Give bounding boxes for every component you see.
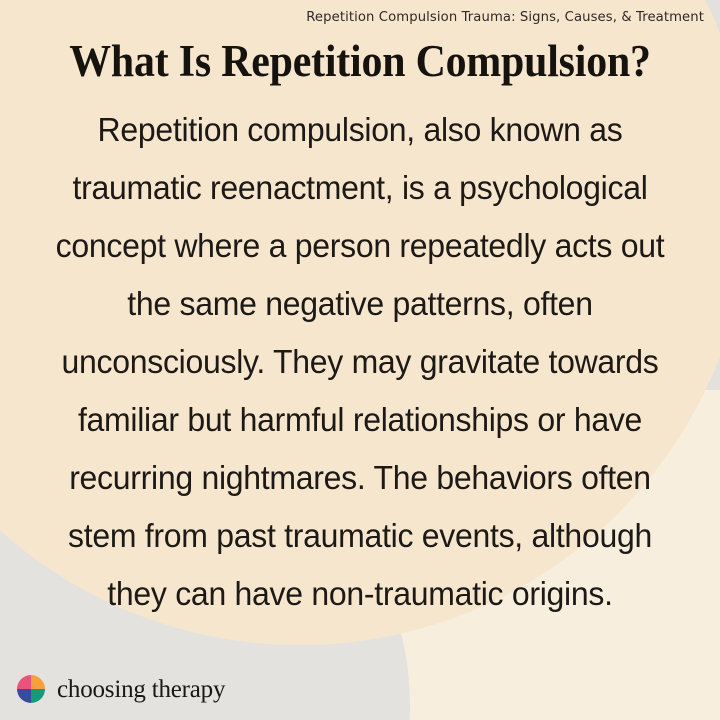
body-line: stem from past traumatic events, althoug… <box>33 508 686 566</box>
choosing-therapy-pinwheel-logo-icon <box>16 674 46 704</box>
body-line: the same negative patterns, often <box>33 276 686 334</box>
body-line: they can have non-traumatic origins. <box>33 566 686 624</box>
body-paragraph: Repetition compulsion, also known astrau… <box>0 102 720 624</box>
article-kicker: Repetition Compulsion Trauma: Signs, Cau… <box>0 11 704 26</box>
page-title: What Is Repetition Compulsion? <box>25 38 695 85</box>
body-line: unconsciously. They may gravitate toward… <box>33 334 686 392</box>
body-line: traumatic reenactment, is a psychologica… <box>33 160 686 218</box>
content-layer: Repetition Compulsion Trauma: Signs, Cau… <box>0 0 720 720</box>
brand-footer: choosing therapy <box>16 674 225 704</box>
body-line: concept where a person repeatedly acts o… <box>33 218 686 276</box>
body-line: recurring nightmares. The behaviors ofte… <box>33 450 686 508</box>
brand-wordmark: choosing therapy <box>57 677 225 702</box>
body-line: familiar but harmful relationships or ha… <box>33 392 686 450</box>
body-line: Repetition compulsion, also known as <box>33 102 686 160</box>
infographic-card: Repetition Compulsion Trauma: Signs, Cau… <box>0 0 720 720</box>
